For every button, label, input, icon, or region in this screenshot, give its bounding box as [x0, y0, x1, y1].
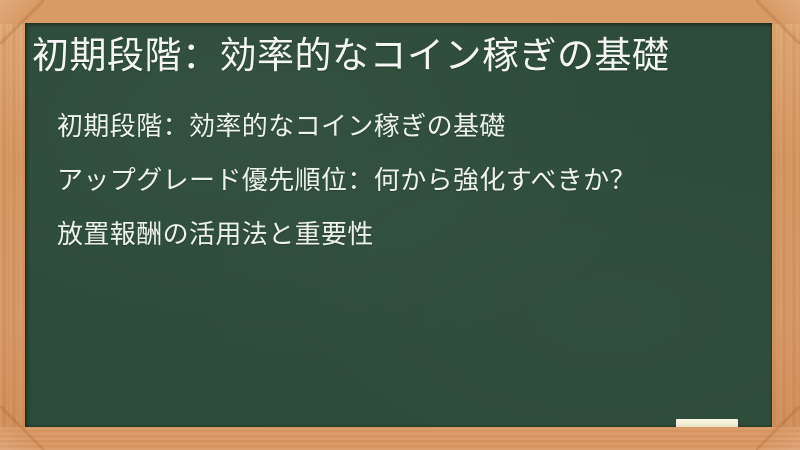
list-item: アップグレード優先順位：何から強化すべきか？ — [57, 153, 757, 207]
frame-top-rail — [0, 0, 800, 24]
list-item: 放置報酬の活用法と重要性 — [57, 207, 757, 261]
chalk-stick-icon — [676, 419, 738, 427]
list-item: 初期段階：効率的なコイン稼ぎの基礎 — [57, 99, 757, 153]
board-topic-list: 初期段階：効率的なコイン稼ぎの基礎 アップグレード優先順位：何から強化すべきか？… — [57, 99, 757, 261]
board-title: 初期段階：効率的なコイン稼ぎの基礎 — [32, 32, 752, 80]
frame-bottom-rail — [0, 427, 800, 450]
blackboard-frame: 初期段階：効率的なコイン稼ぎの基礎 初期段階：効率的なコイン稼ぎの基礎 アップグ… — [0, 0, 800, 450]
chalkboard-surface: 初期段階：効率的なコイン稼ぎの基礎 初期段階：効率的なコイン稼ぎの基礎 アップグ… — [25, 23, 772, 427]
